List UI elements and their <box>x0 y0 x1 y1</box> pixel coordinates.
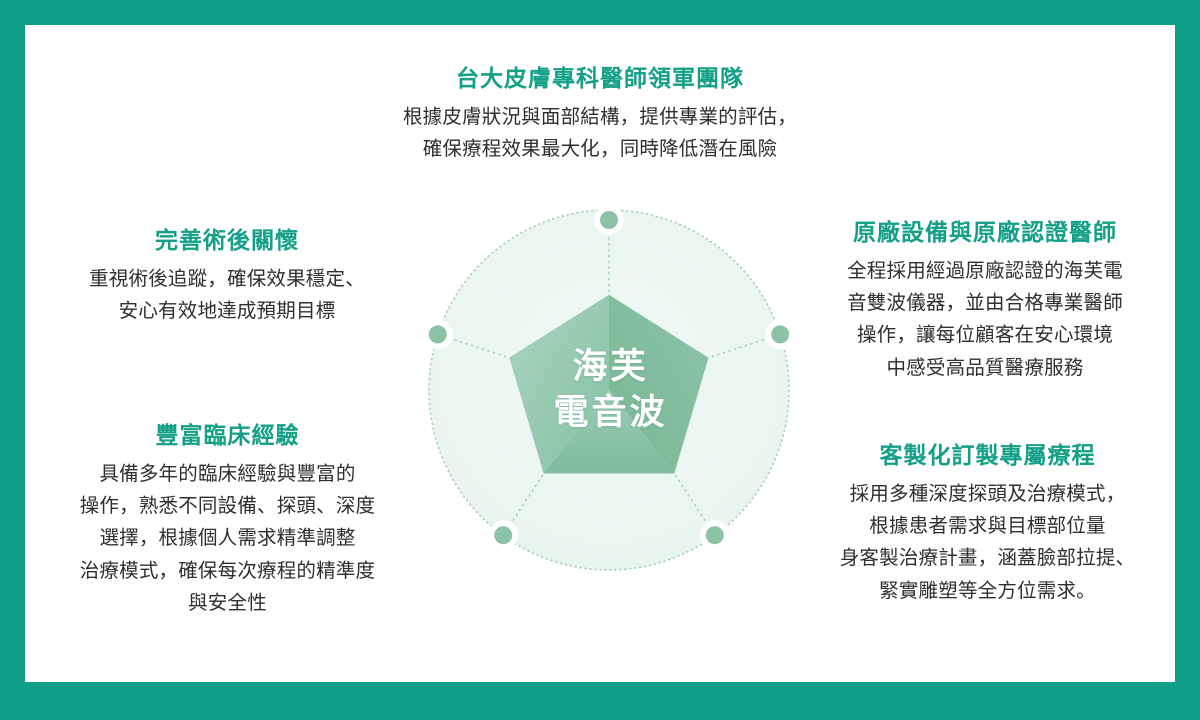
node-bottom-right[interactable] <box>700 520 730 550</box>
body-line: 治療模式，確保每次療程的精準度 <box>80 560 376 582</box>
body-line: 中感受高品質醫療服務 <box>886 357 1083 379</box>
feature-block-lower-left: 豐富臨床經驗 具備多年的臨床經驗與豐富的 操作，熟悉不同設備、探頭、深度 選擇，… <box>35 420 420 619</box>
body-line: 與安全性 <box>188 592 267 614</box>
node-left[interactable] <box>423 319 453 349</box>
body-line: 操作，讓每位顧客在安心環境 <box>857 324 1113 346</box>
feature-body-upper-left: 重視術後追蹤，確保效果穩定、 安心有效地達成預期目標 <box>37 263 417 327</box>
body-line: 重視術後追蹤，確保效果穩定、 <box>89 268 365 290</box>
feature-body-lower-right: 採用多種深度探頭及治療模式， 根據患者需求與目標部位量 身客製治療計畫，涵蓋臉部… <box>790 478 1175 607</box>
body-line: 身客製治療計畫，涵蓋臉部拉提、 <box>840 547 1136 569</box>
node-bottom-left[interactable] <box>488 520 518 550</box>
radial-pentagon-diagram: 海芙 電音波 <box>419 200 799 580</box>
feature-heading-upper-left: 完善術後關懷 <box>37 225 417 256</box>
node-top[interactable] <box>594 205 624 235</box>
body-line: 根據患者需求與目標部位量 <box>869 515 1105 537</box>
diagram-svg <box>419 200 799 580</box>
body-line: 操作，熟悉不同設備、探頭、深度 <box>80 495 376 517</box>
feature-body-top: 根據皮膚狀況與面部結構，提供專業的評估， 確保療程效果最大化，同時降低潛在風險 <box>280 101 920 165</box>
body-line: 音雙波儀器，並由合格專業醫師 <box>847 292 1123 314</box>
feature-body-upper-right: 全程採用經過原廠認證的海芙電 音雙波儀器，並由合格專業醫師 操作，讓每位顧客在安… <box>785 255 1175 384</box>
feature-body-lower-left: 具備多年的臨床經驗與豐富的 操作，熟悉不同設備、探頭、深度 選擇，根據個人需求精… <box>35 458 420 619</box>
feature-heading-lower-left: 豐富臨床經驗 <box>35 420 420 451</box>
page-frame: 海芙 電音波 台大皮膚專科醫師領軍團隊 根據皮膚狀況與面部結構，提供專業的評估，… <box>0 0 1200 720</box>
body-line: 全程採用經過原廠認證的海芙電 <box>847 260 1123 282</box>
feature-heading-top: 台大皮膚專科醫師領軍團隊 <box>280 63 920 94</box>
feature-block-upper-left: 完善術後關懷 重視術後追蹤，確保效果穩定、 安心有效地達成預期目標 <box>37 225 417 327</box>
body-line: 根據皮膚狀況與面部結構，提供專業的評估， <box>403 106 797 128</box>
body-line: 安心有效地達成預期目標 <box>119 300 336 322</box>
feature-heading-upper-right: 原廠設備與原廠認證醫師 <box>785 217 1175 248</box>
body-line: 具備多年的臨床經驗與豐富的 <box>99 463 355 485</box>
feature-block-top: 台大皮膚專科醫師領軍團隊 根據皮膚狀況與面部結構，提供專業的評估， 確保療程效果… <box>280 63 920 165</box>
feature-block-upper-right: 原廠設備與原廠認證醫師 全程採用經過原廠認證的海芙電 音雙波儀器，並由合格專業醫… <box>785 217 1175 384</box>
body-line: 選擇，根據個人需求精準調整 <box>99 527 355 549</box>
body-line: 緊實雕塑等全方位需求。 <box>879 580 1096 602</box>
body-line: 採用多種深度探頭及治療模式， <box>850 483 1126 505</box>
content-canvas: 海芙 電音波 台大皮膚專科醫師領軍團隊 根據皮膚狀況與面部結構，提供專業的評估，… <box>25 25 1175 682</box>
feature-block-lower-right: 客製化訂製專屬療程 採用多種深度探頭及治療模式， 根據患者需求與目標部位量 身客… <box>790 440 1175 607</box>
body-line: 確保療程效果最大化，同時降低潛在風險 <box>423 138 778 160</box>
feature-heading-lower-right: 客製化訂製專屬療程 <box>790 440 1175 471</box>
